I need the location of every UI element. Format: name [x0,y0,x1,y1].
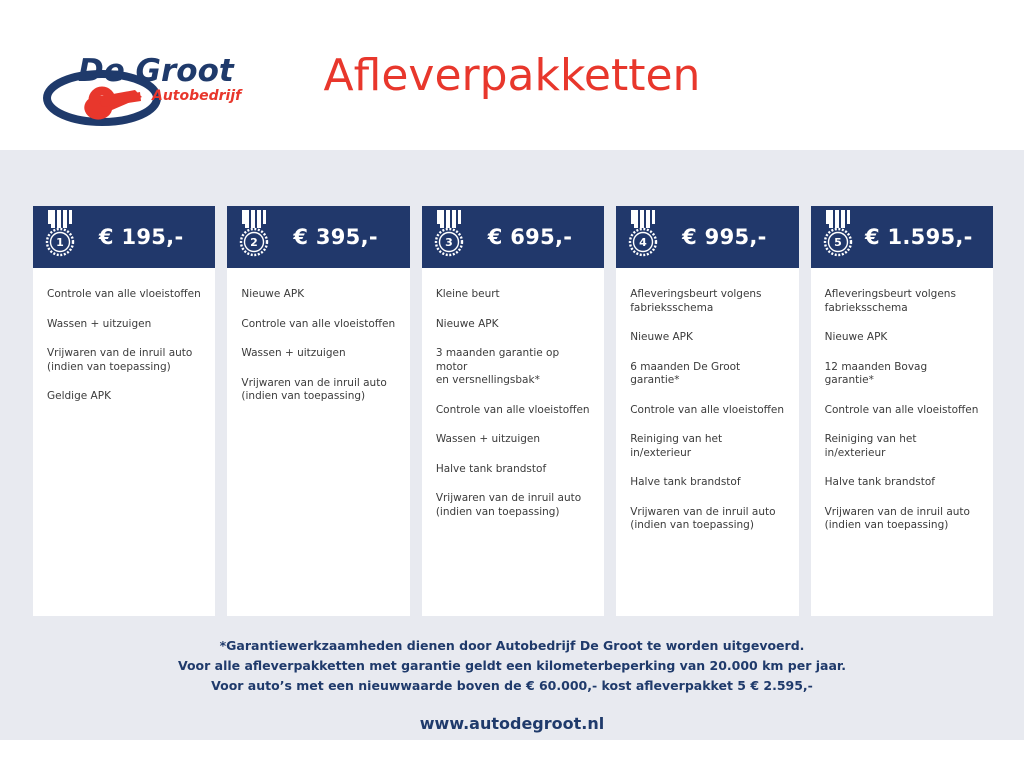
feature-item: Halve tank brandstof [825,476,979,490]
feature-item: Controle van alle vloeistoffen [241,318,395,332]
package-card-4[interactable]: 4 € 995,- Afleveringsbeurt volgensfabrie… [616,206,798,616]
feature-item: Halve tank brandstof [630,476,784,490]
package-features-5: Afleveringsbeurt volgensfabrieksschema N… [811,268,993,616]
package-header-4: 4 € 995,- [616,206,798,268]
package-price: € 995,- [662,225,784,249]
package-price: € 695,- [468,225,590,249]
feature-item: 3 maanden garantie op motoren versnellin… [436,347,590,388]
footer-disclaimer-line: *Garantiewerkzaamheden dienen door Autob… [0,636,1024,656]
website-url[interactable]: www.autodegroot.nl [0,714,1024,733]
page-header: De Groot Autobedrijf Afleverpakketten [0,0,1024,150]
package-features-2: Nieuwe APK Controle van alle vloeistoffe… [227,268,409,616]
feature-item: Wassen + uitzuigen [436,433,590,447]
medal-icon: 4 [626,210,662,262]
feature-item: Vrijwaren van de inruil auto(indien van … [630,506,784,533]
feature-item: 12 maanden Bovag garantie* [825,361,979,388]
feature-item: Reiniging van het in/exterieur [630,433,784,460]
package-price: € 395,- [273,225,395,249]
medal-number: 4 [639,236,647,249]
package-features-4: Afleveringsbeurt volgensfabrieksschema N… [616,268,798,616]
medal-number: 2 [251,236,259,249]
feature-item: Controle van alle vloeistoffen [436,404,590,418]
feature-item: Nieuwe APK [630,331,784,345]
package-price: € 195,- [79,225,201,249]
package-features-3: Kleine beurt Nieuwe APK 3 maanden garant… [422,268,604,616]
feature-item: 6 maanden De Groot garantie* [630,361,784,388]
feature-item: Reiniging van het in/exterieur [825,433,979,460]
package-price: € 1.595,- [857,225,979,249]
feature-item: Afleveringsbeurt volgensfabrieksschema [825,288,979,315]
package-header-3: 3 € 695,- [422,206,604,268]
medal-number: 5 [834,236,842,249]
medal-icon: 3 [432,210,468,262]
feature-item: Vrijwaren van de inruil auto(indien van … [825,506,979,533]
feature-item: Halve tank brandstof [436,463,590,477]
package-card-3[interactable]: 3 € 695,- Kleine beurt Nieuwe APK 3 maan… [422,206,604,616]
feature-item: Controle van alle vloeistoffen [825,404,979,418]
medal-icon: 2 [237,210,273,262]
footer: *Garantiewerkzaamheden dienen door Autob… [0,636,1024,733]
medal-icon: 1 [43,210,79,262]
feature-item: Wassen + uitzuigen [47,318,201,332]
feature-item: Afleveringsbeurt volgensfabrieksschema [630,288,784,315]
footer-disclaimer-line: Voor auto’s met een nieuwwaarde boven de… [0,676,1024,696]
package-card-5[interactable]: 5 € 1.595,- Afleveringsbeurt volgensfabr… [811,206,993,616]
feature-item: Kleine beurt [436,288,590,302]
feature-item: Controle van alle vloeistoffen [47,288,201,302]
feature-item: Vrijwaren van de inruil auto(indien van … [436,492,590,519]
package-card-1[interactable]: 1 € 195,- Controle van alle vloeistoffen… [33,206,215,616]
package-list: 1 € 195,- Controle van alle vloeistoffen… [33,206,993,616]
page-title: Afleverpakketten [0,50,1024,101]
medal-number: 3 [445,236,453,249]
feature-item: Controle van alle vloeistoffen [630,404,784,418]
feature-item: Nieuwe APK [825,331,979,345]
feature-item: Vrijwaren van de inruil auto(indien van … [241,377,395,404]
package-card-2[interactable]: 2 € 395,- Nieuwe APK Controle van alle v… [227,206,409,616]
medal-number: 1 [56,236,64,249]
package-header-1: 1 € 195,- [33,206,215,268]
feature-item: Wassen + uitzuigen [241,347,395,361]
package-header-5: 5 € 1.595,- [811,206,993,268]
package-features-1: Controle van alle vloeistoffen Wassen + … [33,268,215,616]
feature-item: Nieuwe APK [436,318,590,332]
package-header-2: 2 € 395,- [227,206,409,268]
feature-item: Geldige APK [47,390,201,404]
feature-item: Nieuwe APK [241,288,395,302]
feature-item: Vrijwaren van de inruil auto(indien van … [47,347,201,374]
medal-icon: 5 [821,210,857,262]
footer-disclaimer-line: Voor alle afleverpakketten met garantie … [0,656,1024,676]
